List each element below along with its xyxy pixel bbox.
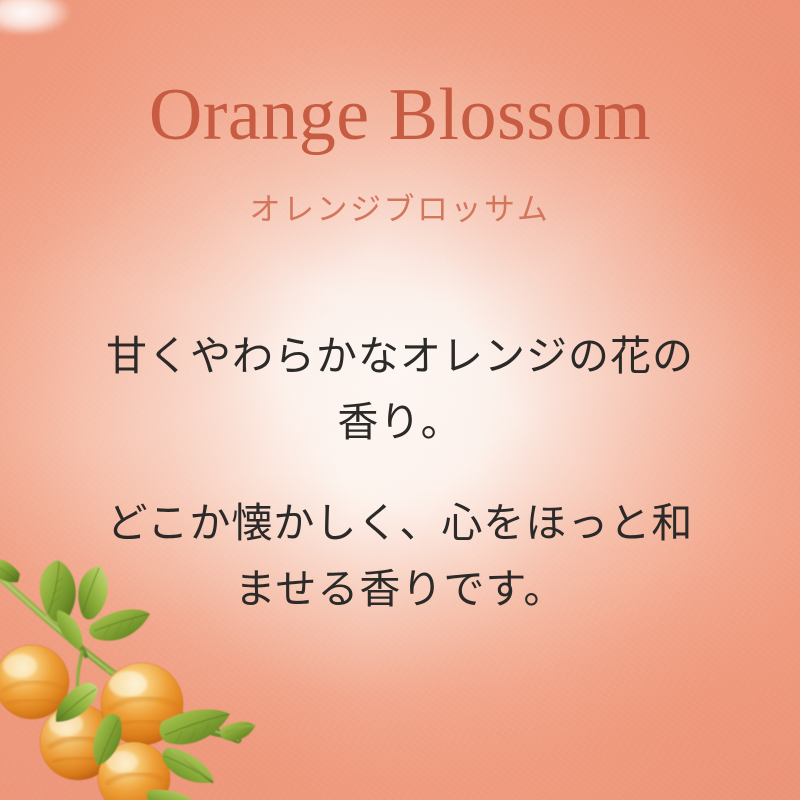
page-title: Orange Blossom (0, 77, 800, 154)
description-paragraph-2: どこか懐かしく、心をほっと和ませる香りです。 (100, 490, 700, 623)
content-area: Orange Blossom オレンジブロッサム 甘くやわらかなオレンジの花の香… (0, 0, 800, 800)
description-paragraph-1: 甘くやわらかなオレンジの花の香り。 (100, 323, 700, 456)
product-card: Orange Blossom オレンジブロッサム 甘くやわらかなオレンジの花の香… (0, 0, 800, 800)
page-subtitle-japanese: オレンジブロッサム (0, 184, 800, 229)
